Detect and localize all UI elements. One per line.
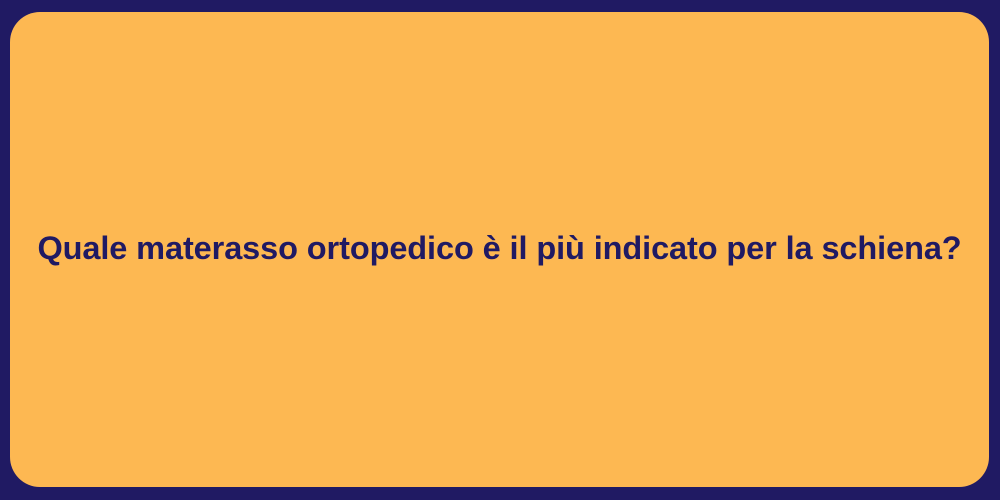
question-headline: Quale materasso ortopedico è il più indi… xyxy=(37,229,961,267)
question-card-frame: Quale materasso ortopedico è il più indi… xyxy=(0,0,1000,500)
headline-container: Quale materasso ortopedico è il più indi… xyxy=(10,229,989,267)
question-card-panel: Quale materasso ortopedico è il più indi… xyxy=(10,12,989,487)
